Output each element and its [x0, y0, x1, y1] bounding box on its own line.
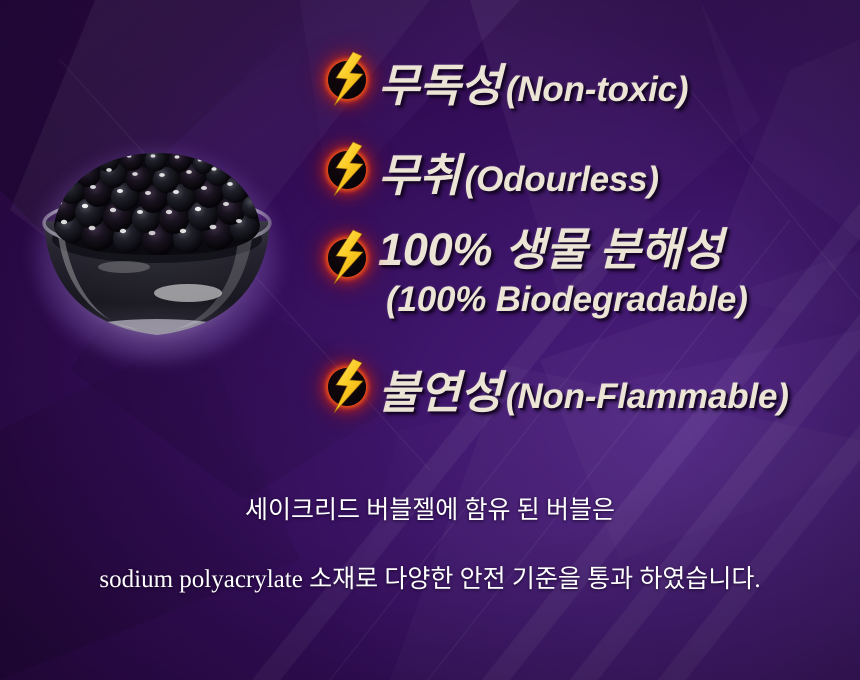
feature-ko: 불연성 [378, 367, 502, 418]
feature-en: (Non-toxic) [506, 70, 689, 109]
feature-item: 무독성 (Non-toxic) [322, 48, 860, 138]
feature-en: (100% Biodegradable) [386, 282, 860, 317]
feature-item: 100% 생물 분해성 (100% Biodegradable) [322, 226, 860, 355]
caption-line-2: sodium polyacrylate 소재로 다양한 안전 기준을 통과 하였… [0, 567, 860, 592]
caption-block: 세이크리드 버블젤에 함유 된 버블은 sodium polyacrylate … [0, 498, 860, 592]
feature-line: 무독성 (Non-toxic) [378, 49, 860, 114]
feature-item: 무취 (Odourless) [322, 138, 860, 226]
feature-text: 무독성 (Non-toxic) [374, 48, 860, 114]
bowl-illustration [28, 143, 286, 358]
feature-ko: 무취 [378, 150, 460, 201]
lightning-bolt-icon [322, 357, 374, 415]
feature-text: 100% 생물 분해성 (100% Biodegradable) [374, 226, 860, 317]
feature-text: 불연성 (Non-Flammable) [374, 355, 860, 421]
feature-ko: 100% 생물 분해성 [378, 227, 860, 272]
lightning-bolt-icon [322, 228, 374, 286]
feature-en: (Odourless) [465, 160, 659, 199]
feature-line: 불연성 (Non-Flammable) [378, 356, 860, 421]
feature-list: 무독성 (Non-toxic) 무취 (Odourless) [322, 48, 860, 425]
feature-ko: 무독성 [378, 60, 502, 111]
feature-en: (Non-Flammable) [506, 377, 789, 416]
caption-line-1: 세이크리드 버블젤에 함유 된 버블은 [0, 498, 860, 523]
lightning-bolt-icon [322, 50, 374, 108]
lightning-bolt-icon [322, 140, 374, 198]
feature-item: 불연성 (Non-Flammable) [322, 355, 860, 425]
feature-text: 무취 (Odourless) [374, 138, 860, 204]
promo-banner: 무독성 (Non-toxic) 무취 (Odourless) [0, 0, 860, 680]
product-bowl [28, 143, 286, 358]
feature-line: 무취 (Odourless) [378, 139, 860, 204]
